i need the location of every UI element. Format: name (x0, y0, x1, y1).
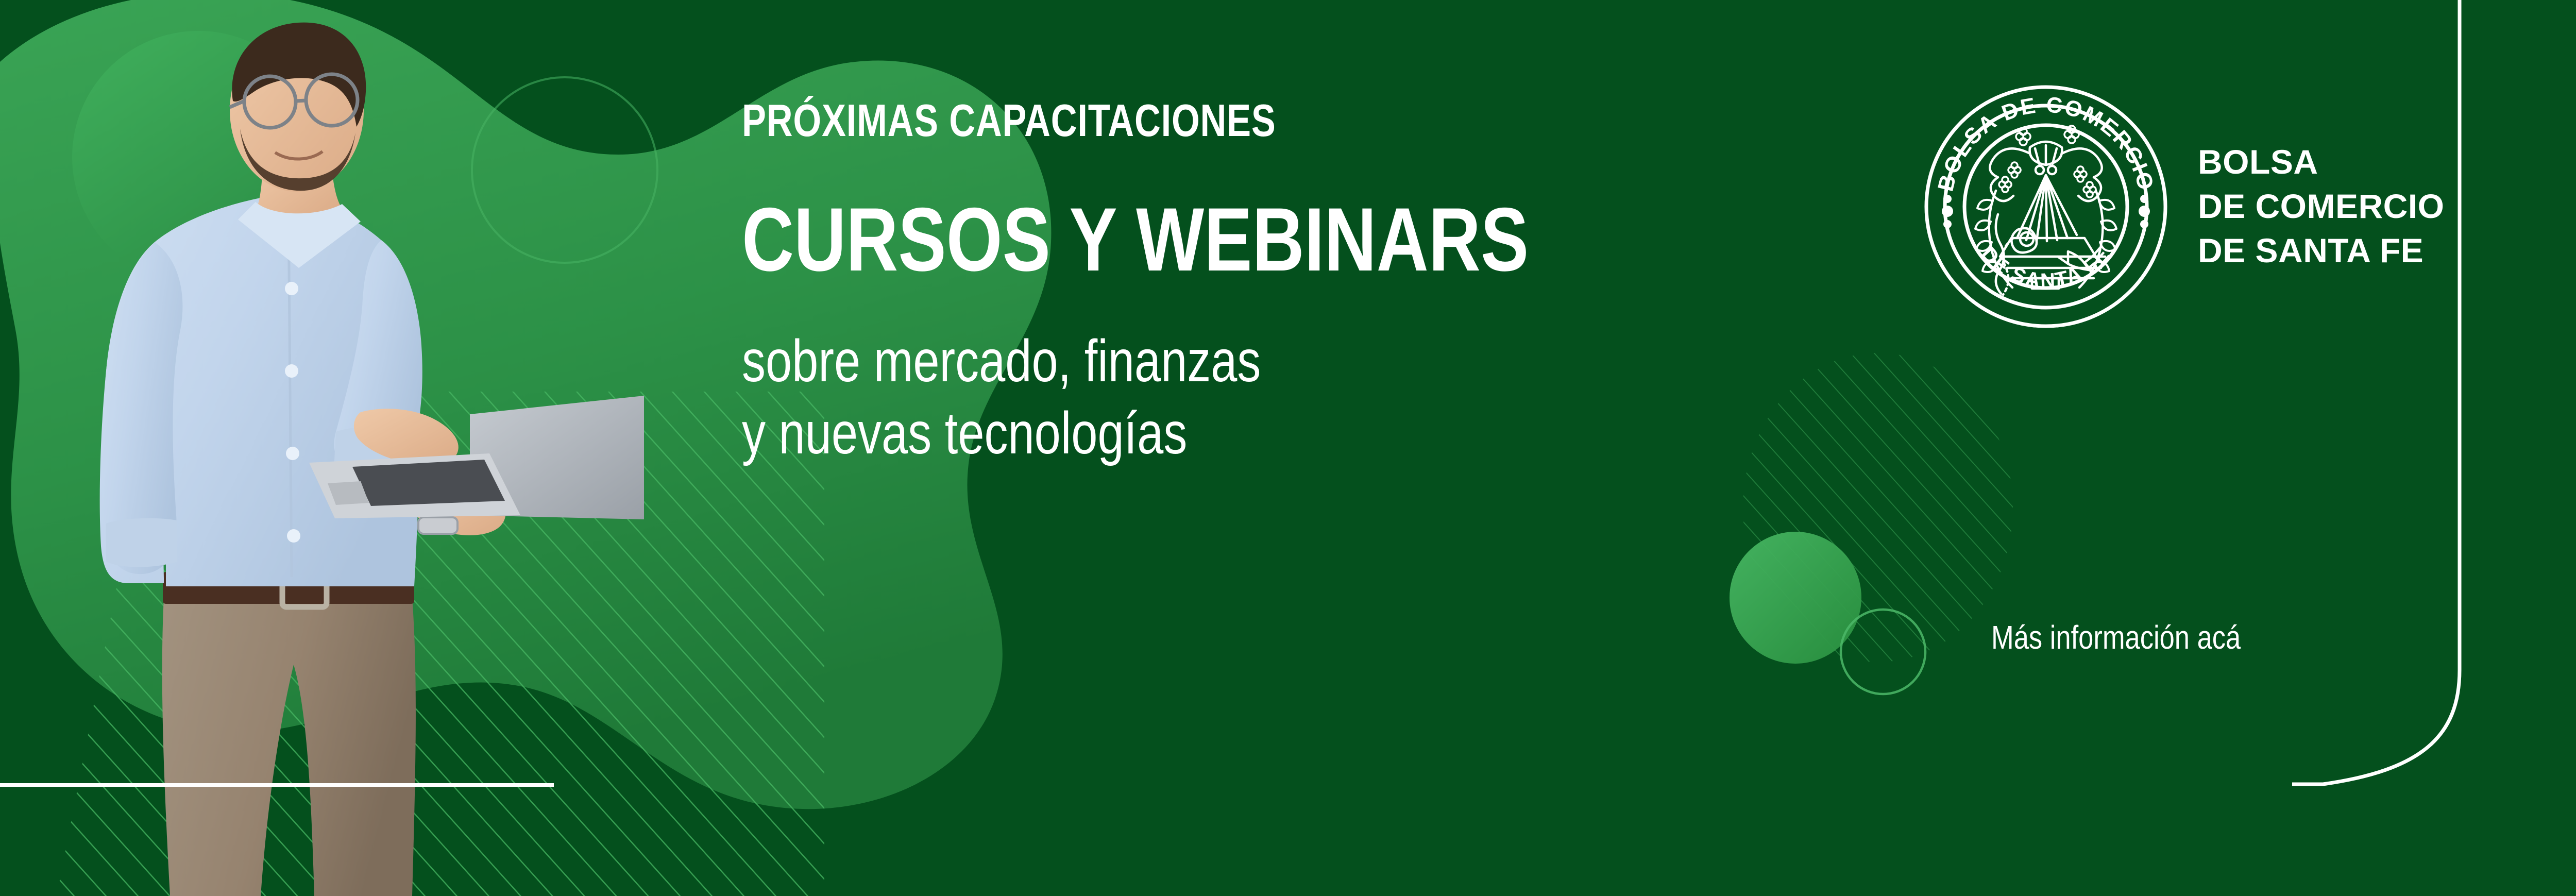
logo-lockup: BOLSA DE COMERCIO DE SANTA FE (1921, 81, 2445, 332)
white-rule-bottom-left (0, 783, 554, 787)
promo-banner: PRÓXIMAS CAPACITACIONES CURSOS Y WEBINAR… (0, 0, 2576, 896)
wordmark: BOLSA DE COMERCIO DE SANTA FE (2198, 140, 2445, 273)
person-photo (0, 0, 721, 896)
eyebrow-text: PRÓXIMAS CAPACITACIONES (742, 98, 1669, 143)
more-info-link[interactable]: Más información acá (1991, 618, 2241, 656)
bolsa-de-comercio-seal-icon: BOLSA DE COMERCIO DE SANTA FE (1921, 81, 2171, 332)
page-title: CURSOS Y WEBINARS (742, 195, 1669, 285)
left-cuff (106, 518, 177, 567)
wordmark-line-3: DE SANTA FE (2198, 229, 2445, 273)
laptop-keyboard (352, 460, 505, 506)
wordmark-line-2: DE COMERCIO (2198, 184, 2445, 229)
subtitle-line-2: y nuevas tecnologías (742, 397, 1669, 469)
trousers (162, 598, 416, 896)
copy-block: PRÓXIMAS CAPACITACIONES CURSOS Y WEBINAR… (742, 98, 1901, 470)
subtitle-text: sobre mercado, finanzas y nuevas tecnolo… (742, 325, 1669, 470)
subtitle-line-1: sobre mercado, finanzas (742, 325, 1669, 397)
wristwatch (418, 517, 457, 534)
wordmark-line-1: BOLSA (2198, 140, 2445, 184)
